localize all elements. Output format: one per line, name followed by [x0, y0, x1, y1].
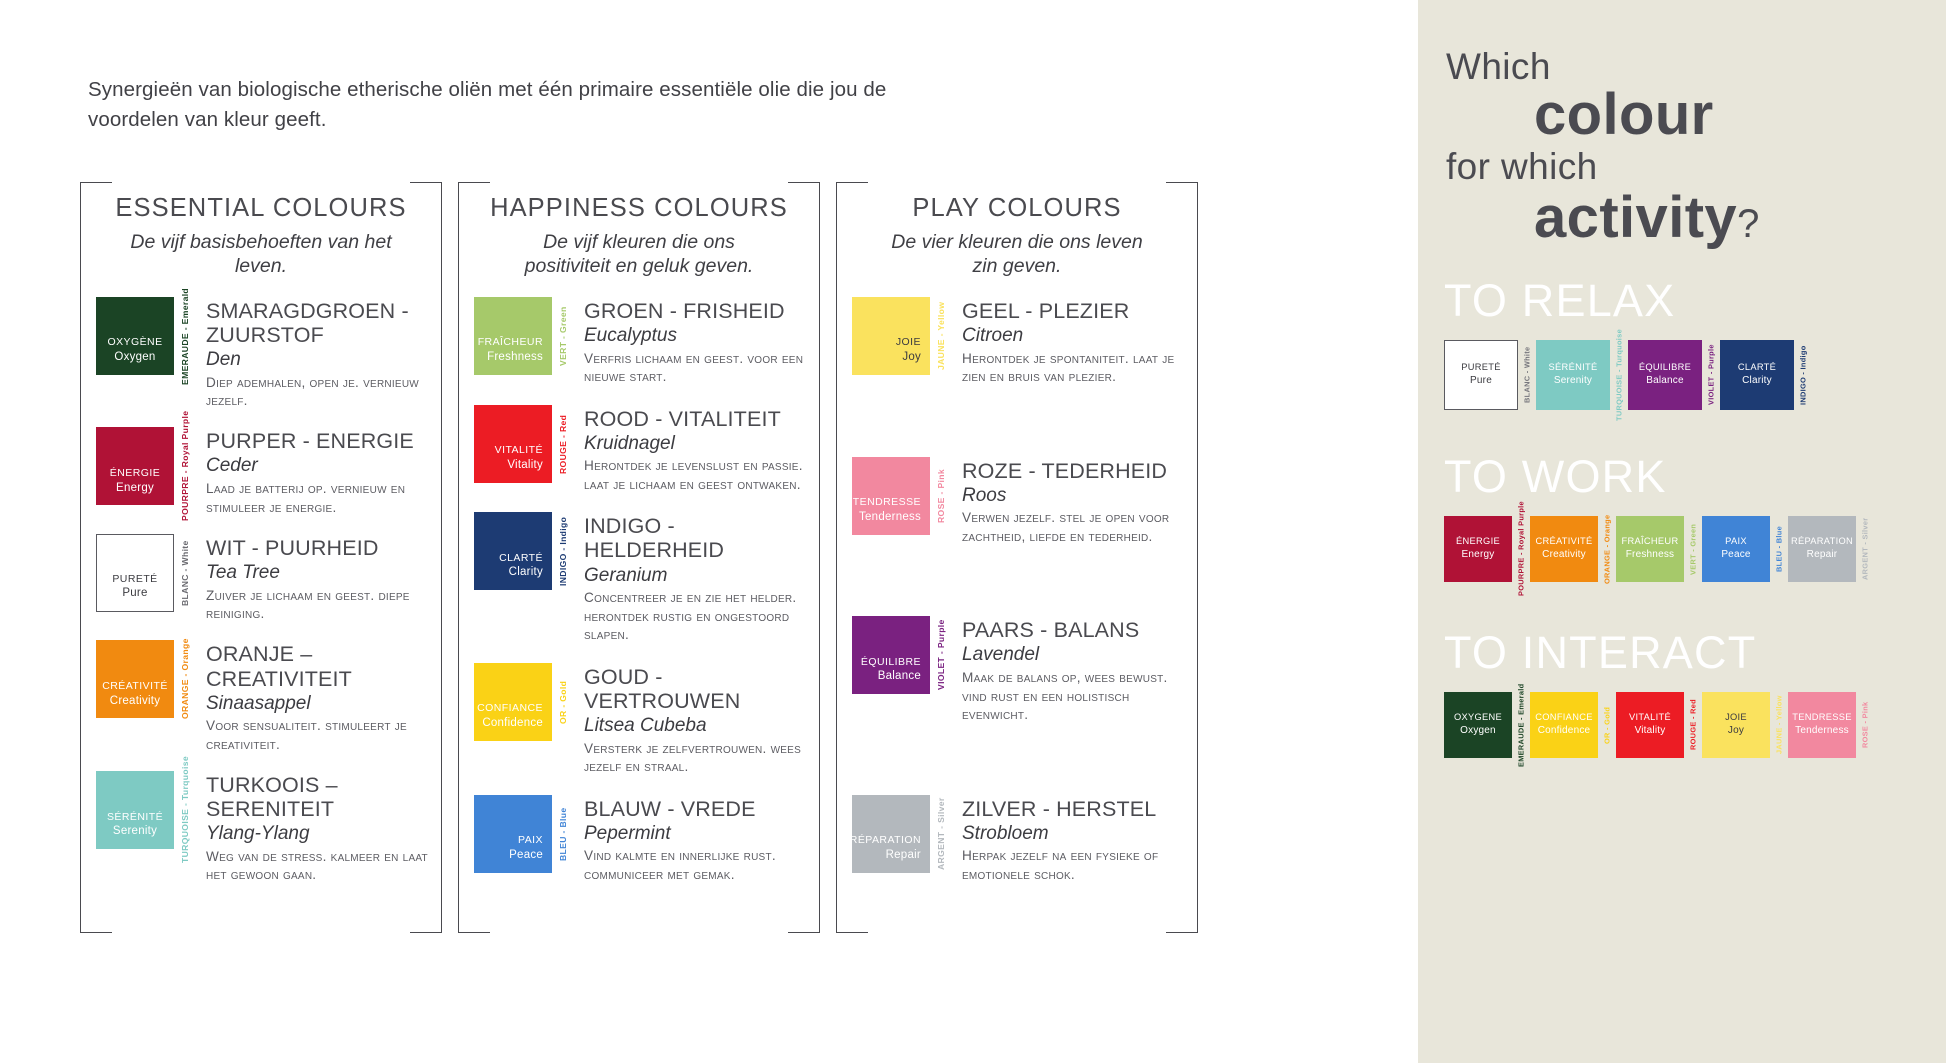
colour-entry[interactable]: SÉRÉNITÉSerenityTURQUOISE - TurquoiseTUR…: [96, 771, 428, 885]
column-title: ESSENTIAL COLOURS: [98, 194, 424, 223]
swatch-label-fr: FRAÎCHEUR: [478, 335, 543, 349]
swatch-group: OXYGÈNEOxygenEMERAUDE - Emerald: [96, 297, 192, 375]
poster-root: Synergieën van biologische etherische ol…: [0, 0, 1946, 1063]
swatch-label-en: Oxygen: [114, 350, 155, 366]
mini-swatch-label-fr: ÉQUILIBRE: [1639, 361, 1691, 374]
column-title: PLAY COLOURS: [854, 194, 1180, 223]
mini-swatch-label-fr: ÉNERGIE: [1456, 535, 1500, 548]
column-subtitle: De vier kleuren die ons leven zin geven.: [854, 230, 1180, 279]
column-header: HAPPINESS COLOURSDe vijf kleuren die ons…: [458, 182, 820, 279]
entry-oil-name: Ylang-Ylang: [206, 822, 428, 846]
entry-oil-name: Citroen: [962, 324, 1184, 348]
mini-colour-swatch[interactable]: PAIXPeace: [1702, 516, 1770, 582]
entry-title: TURKOOIS – SERENITEIT: [206, 773, 428, 821]
column-header: PLAY COLOURSDe vier kleuren die ons leve…: [836, 182, 1198, 279]
mini-swatch-label-en: Pure: [1470, 374, 1492, 389]
column-entries: JOIEJoyJAUNE - YellowGEEL - PLEZIERCitro…: [836, 279, 1198, 911]
swatch-label-en: Clarity: [509, 565, 543, 581]
mini-swatch-label-en: Serenity: [1554, 374, 1592, 389]
entry-oil-name: Strobloem: [962, 822, 1184, 846]
mini-swatch-group: CONFIANCEConfidenceOR - Gold: [1530, 692, 1613, 758]
swatch-side-label: VIOLET - Purple: [934, 616, 948, 694]
entry-oil-name: Pepermint: [584, 822, 806, 846]
mini-swatch-group: TENDRESSETendernessROSE - Pink: [1788, 692, 1871, 758]
entry-description: Herpak jezelf na een fysieke of emotione…: [962, 847, 1184, 884]
mini-colour-swatch[interactable]: ÉQUILIBREBalance: [1628, 340, 1702, 410]
column-entries: FRAÎCHEURFreshnessVERT - GreenGROEN - FR…: [458, 279, 820, 911]
entry-description: Diep ademhalen, open je. Vernieuw jezelf…: [206, 374, 428, 411]
entry-text: GROEN - FRISHEIDEucalyptusVerfris lichaa…: [570, 297, 806, 387]
mini-swatch-group: JOIEJoyJAUNE - Yellow: [1702, 692, 1785, 758]
entry-title: BLAUW - VREDE: [584, 797, 806, 821]
mini-swatch-label-fr: FRAÎCHEUR: [1622, 535, 1679, 548]
colour-swatch[interactable]: PAIXPeace: [474, 795, 552, 873]
mini-swatch-label-en: Energy: [1462, 548, 1495, 563]
entry-text: PURPER - ENERGIECederLaad je batterij op…: [192, 427, 428, 517]
mini-colour-swatch[interactable]: PURETÉPure: [1444, 340, 1518, 410]
mini-swatch-label-en: Joy: [1728, 724, 1744, 739]
entry-title: ORANJE – CREATIVITEIT: [206, 642, 428, 690]
colour-entry[interactable]: PURETÉPureBLANC - WhiteWIT - PUURHEIDTea…: [96, 534, 428, 624]
panel-headline: Which colour for which activity?: [1446, 48, 1926, 250]
mini-swatch-label-en: Creativity: [1542, 548, 1586, 563]
entry-text: BLAUW - VREDEPepermintVind kalmte en inn…: [570, 795, 806, 885]
swatch-group: ÉNERGIEEnergyPOURPRE - Royal Purple: [96, 427, 192, 505]
entry-oil-name: Geranium: [584, 564, 806, 588]
mini-swatch-group: PURETÉPureBLANC - White: [1444, 340, 1533, 410]
mini-swatch-label-en: Confidence: [1538, 724, 1591, 739]
mini-swatch-side-label: JAUNE - Yellow: [1773, 692, 1785, 758]
swatch-label-fr: OXYGÈNE: [107, 335, 162, 349]
swatch-label-en: Balance: [878, 669, 921, 685]
mini-swatch-label-en: Oxygen: [1460, 724, 1496, 739]
left-content-pane: Synergieën van biologische etherische ol…: [0, 0, 1418, 1063]
mini-swatch-side-label: BLANC - White: [1521, 340, 1533, 410]
entry-text: WIT - PUURHEIDTea TreeZuiver je lichaam …: [192, 534, 428, 624]
entry-text: TURKOOIS – SERENITEITYlang-YlangWeg van …: [192, 771, 428, 885]
swatch-group: ÉQUILIBREBalanceVIOLET - Purple: [852, 616, 948, 694]
colour-entry[interactable]: ÉQUILIBREBalanceVIOLET - PurplePAARS - B…: [852, 616, 1184, 724]
column-subtitle: De vijf basisbehoeften van het leven.: [98, 230, 424, 279]
colour-swatch[interactable]: CONFIANCEConfidence: [474, 663, 552, 741]
swatch-side-label: TURQUOISE - Turquoise: [178, 771, 192, 849]
mini-colour-swatch[interactable]: VITALITÉVitality: [1616, 692, 1684, 758]
mini-swatch-group: OXYGENEOxygenEMERAUDE - Emerald: [1444, 692, 1527, 758]
colour-entry[interactable]: CRÉATIVITÉCreativityORANGE - OrangeORANJ…: [96, 640, 428, 754]
swatch-label-en: Freshness: [487, 350, 543, 366]
entry-description: Zuiver je lichaam en geest. Diepe reinig…: [206, 587, 428, 624]
activity-label: TO RELAX: [1418, 276, 1946, 326]
entry-title: ROOD - VITALITEIT: [584, 407, 806, 431]
swatch-label-en: Peace: [509, 848, 543, 864]
headline-activity-word: activity: [1534, 185, 1737, 250]
headline-line-3: for which: [1446, 146, 1926, 187]
swatch-label-fr: CLARTÉ: [499, 551, 543, 565]
entry-oil-name: Kruidnagel: [584, 432, 806, 456]
mini-colour-swatch[interactable]: CONFIANCEConfidence: [1530, 692, 1598, 758]
entry-title: INDIGO - HELDERHEID: [584, 514, 806, 562]
entry-text: SMARAGDGROEN - ZUURSTOFDenDiep ademhalen…: [192, 297, 428, 411]
entry-text: PAARS - BALANSLavendelMaak de balans op,…: [948, 616, 1184, 724]
entry-title: GROEN - FRISHEID: [584, 299, 806, 323]
entry-oil-name: Roos: [962, 484, 1184, 508]
mini-swatch-group: CRÉATIVITÉCreativityORANGE - Orange: [1530, 516, 1613, 582]
mini-colour-swatch[interactable]: TENDRESSETenderness: [1788, 692, 1856, 758]
entry-oil-name: Lavendel: [962, 643, 1184, 667]
mini-swatch-group: FRAÎCHEURFreshnessVERT - Green: [1616, 516, 1699, 582]
mini-swatch-group: CLARTÉClarityINDIGO - Indigo: [1720, 340, 1809, 410]
swatch-side-label: BLEU - Blue: [556, 795, 570, 873]
mini-colour-swatch[interactable]: RÉPARATIONRepair: [1788, 516, 1856, 582]
mini-colour-swatch[interactable]: CLARTÉClarity: [1720, 340, 1794, 410]
colour-columns: ESSENTIAL COLOURSDe vijf basisbehoeften …: [80, 182, 1400, 933]
swatch-side-label: ORANGE - Orange: [178, 640, 192, 718]
swatch-label-fr: ÉNERGIE: [110, 466, 160, 480]
mini-swatch-side-label: TURQUOISE - Turquoise: [1613, 340, 1625, 410]
entry-title: ROZE - TEDERHEID: [962, 459, 1184, 483]
colour-swatch[interactable]: VITALITÉVitality: [474, 405, 552, 483]
swatch-side-label: BLANC - White: [178, 534, 192, 612]
colour-swatch[interactable]: SÉRÉNITÉSerenity: [96, 771, 174, 849]
mini-swatch-group: ÉQUILIBREBalanceVIOLET - Purple: [1628, 340, 1717, 410]
colour-entry[interactable]: OXYGÈNEOxygenEMERAUDE - EmeraldSMARAGDGR…: [96, 297, 428, 411]
entry-text: ROOD - VITALITEITKruidnagelHerontdek je …: [570, 405, 806, 495]
mini-swatch-label-fr: SÉRÉNITÉ: [1549, 361, 1598, 374]
swatch-label-en: Tenderness: [859, 510, 921, 526]
mini-colour-swatch[interactable]: OXYGENEOxygen: [1444, 692, 1512, 758]
swatch-label-fr: SÉRÉNITÉ: [107, 810, 163, 824]
colour-entry[interactable]: RÉPARATIONRepairARGENT - SilverZILVER - …: [852, 795, 1184, 885]
colour-entry[interactable]: ÉNERGIEEnergyPOURPRE - Royal PurplePURPE…: [96, 427, 428, 517]
entry-oil-name: Tea Tree: [206, 561, 428, 585]
colour-entry[interactable]: PAIXPeaceBLEU - BlueBLAUW - VREDEPepermi…: [474, 795, 806, 885]
colour-swatch[interactable]: RÉPARATIONRepair: [852, 795, 930, 873]
colour-swatch[interactable]: TENDRESSETenderness: [852, 457, 930, 535]
swatch-label-en: Confidence: [482, 716, 543, 732]
entry-text: ORANJE – CREATIVITEITSinaasappelVoor sen…: [192, 640, 428, 754]
colour-entry[interactable]: CLARTÉClarityINDIGO - IndigoINDIGO - HEL…: [474, 512, 806, 644]
mini-swatch-label-fr: RÉPARATION: [1791, 535, 1853, 548]
column-header: ESSENTIAL COLOURSDe vijf basisbehoeften …: [80, 182, 442, 279]
mini-swatch-label-en: Peace: [1721, 548, 1750, 563]
colour-swatch[interactable]: CLARTÉClarity: [474, 512, 552, 590]
swatch-group: CONFIANCEConfidenceOR - Gold: [474, 663, 570, 741]
mini-swatch-label-fr: PAIX: [1725, 535, 1747, 548]
entry-title: ZILVER - HERSTEL: [962, 797, 1184, 821]
swatch-side-label: POURPRE - Royal Purple: [178, 427, 192, 505]
swatch-label-en: Energy: [116, 481, 154, 497]
swatch-group: RÉPARATIONRepairARGENT - Silver: [852, 795, 948, 873]
entry-description: Herontdek je spontaniteit. Laat je zien …: [962, 350, 1184, 387]
mini-swatch-label-en: Vitality: [1635, 724, 1666, 739]
entry-text: ZILVER - HERSTELStrobloemHerpak jezelf n…: [948, 795, 1184, 885]
entry-description: Weg van de stress. Kalmeer en laat het g…: [206, 848, 428, 885]
column-subtitle: De vijf kleuren die ons positiviteit en …: [476, 230, 802, 279]
entry-description: Laad je batterij op. Vernieuw en stimule…: [206, 480, 428, 517]
entry-oil-name: Ceder: [206, 454, 428, 478]
colour-swatch[interactable]: JOIEJoy: [852, 297, 930, 375]
swatch-label-en: Vitality: [507, 458, 543, 474]
entry-title: WIT - PUURHEID: [206, 536, 428, 560]
headline-line-1: Which: [1446, 48, 1926, 85]
activity-group-to-relax: TO RELAXPURETÉPureBLANC - WhiteSÉRÉNITÉS…: [1418, 276, 1946, 410]
colour-entry[interactable]: FRAÎCHEURFreshnessVERT - GreenGROEN - FR…: [474, 297, 806, 387]
mini-swatch-side-label: ROUGE - Red: [1687, 692, 1699, 758]
entry-text: GOUD - VERTROUWENLitsea CubebaVersterk j…: [570, 663, 806, 777]
mini-swatch-side-label: INDIGO - Indigo: [1797, 340, 1809, 410]
colour-swatch[interactable]: FRAÎCHEURFreshness: [474, 297, 552, 375]
colour-swatch[interactable]: CRÉATIVITÉCreativity: [96, 640, 174, 718]
headline-question-mark: ?: [1737, 202, 1760, 246]
swatch-label-fr: JOIE: [896, 335, 921, 349]
swatch-label-en: Joy: [902, 350, 921, 366]
swatch-group: FRAÎCHEURFreshnessVERT - Green: [474, 297, 570, 375]
colour-swatch[interactable]: ÉNERGIEEnergy: [96, 427, 174, 505]
mini-swatch-label-en: Tenderness: [1795, 724, 1849, 739]
mini-swatch-label-en: Balance: [1646, 374, 1684, 389]
entry-oil-name: Eucalyptus: [584, 324, 806, 348]
mini-swatch-label-en: Repair: [1807, 548, 1838, 563]
swatch-side-label: ROSE - Pink: [934, 457, 948, 535]
mini-swatch-side-label: ROSE - Pink: [1859, 692, 1871, 758]
swatch-group: PAIXPeaceBLEU - Blue: [474, 795, 570, 873]
activity-swatch-row: PURETÉPureBLANC - WhiteSÉRÉNITÉSerenityT…: [1418, 340, 1946, 410]
colour-entry[interactable]: CONFIANCEConfidenceOR - GoldGOUD - VERTR…: [474, 663, 806, 777]
mini-colour-swatch[interactable]: CRÉATIVITÉCreativity: [1530, 516, 1598, 582]
entry-description: Verfris lichaam en geest. Voor een nieuw…: [584, 350, 806, 387]
activity-group-to-interact: TO INTERACTOXYGENEOxygenEMERAUDE - Emera…: [1418, 628, 1946, 758]
colour-swatch[interactable]: OXYGÈNEOxygen: [96, 297, 174, 375]
swatch-label-en: Repair: [886, 848, 921, 864]
mini-swatch-label-fr: PURETÉ: [1461, 361, 1501, 374]
swatch-group: VITALITÉVitalityROUGE - Red: [474, 405, 570, 483]
entry-title: PURPER - ENERGIE: [206, 429, 428, 453]
mini-swatch-side-label: VIOLET - Purple: [1705, 340, 1717, 410]
mini-swatch-group: ÉNERGIEEnergyPOURPRE - Royal Purple: [1444, 516, 1527, 582]
swatch-group: CRÉATIVITÉCreativityORANGE - Orange: [96, 640, 192, 718]
swatch-side-label: OR - Gold: [556, 663, 570, 741]
swatch-label-fr: CRÉATIVITÉ: [102, 679, 168, 693]
swatch-label-en: Creativity: [110, 694, 160, 710]
column-title: HAPPINESS COLOURS: [476, 194, 802, 223]
swatch-label-fr: PAIX: [518, 833, 543, 847]
activity-swatch-row: OXYGENEOxygenEMERAUDE - EmeraldCONFIANCE…: [1418, 692, 1946, 758]
mini-colour-swatch[interactable]: JOIEJoy: [1702, 692, 1770, 758]
entry-text: ROZE - TEDERHEIDRoosVerwen jezelf. Stel …: [948, 457, 1184, 547]
mini-swatch-group: SÉRÉNITÉSerenityTURQUOISE - Turquoise: [1536, 340, 1625, 410]
mini-swatch-label-fr: CRÉATIVITÉ: [1535, 535, 1592, 548]
mini-swatch-label-fr: VITALITÉ: [1629, 711, 1671, 724]
swatch-label-fr: RÉPARATION: [850, 833, 921, 847]
swatch-side-label: JAUNE - Yellow: [934, 297, 948, 375]
swatch-label-fr: VITALITÉ: [495, 443, 543, 457]
colour-column-1: ESSENTIAL COLOURSDe vijf basisbehoeften …: [80, 182, 442, 933]
swatch-side-label: VERT - Green: [556, 297, 570, 375]
activity-swatch-row: ÉNERGIEEnergyPOURPRE - Royal PurpleCRÉAT…: [1418, 516, 1946, 582]
entry-description: Versterk je zelfvertrouwen. Wees jezelf …: [584, 740, 806, 777]
entry-title: SMARAGDGROEN - ZUURSTOF: [206, 299, 428, 347]
activity-label: TO INTERACT: [1418, 628, 1946, 678]
entry-oil-name: Den: [206, 348, 428, 372]
swatch-label-fr: TENDRESSE: [853, 495, 921, 509]
colour-entry[interactable]: TENDRESSETendernessROSE - PinkROZE - TED…: [852, 457, 1184, 547]
swatch-group: SÉRÉNITÉSerenityTURQUOISE - Turquoise: [96, 771, 192, 849]
mini-swatch-label-fr: OXYGENE: [1454, 711, 1502, 724]
entry-title: PAARS - BALANS: [962, 618, 1184, 642]
entry-description: Concentreer je en zie het helder. Heront…: [584, 589, 806, 644]
entry-title: GOUD - VERTROUWEN: [584, 665, 806, 713]
mini-swatch-group: RÉPARATIONRepairARGENT - Silver: [1788, 516, 1871, 582]
colour-swatch[interactable]: ÉQUILIBREBalance: [852, 616, 930, 694]
swatch-side-label: INDIGO - Indigo: [556, 512, 570, 590]
entry-description: Voor sensualiteit. Stimuleert je creativ…: [206, 717, 428, 754]
entry-oil-name: Litsea Cubeba: [584, 714, 806, 738]
mini-swatch-label-en: Freshness: [1626, 548, 1675, 563]
activity-group-to-work: TO WORKÉNERGIEEnergyPOURPRE - Royal Purp…: [1418, 452, 1946, 582]
colour-swatch[interactable]: PURETÉPure: [96, 534, 174, 612]
swatch-label-fr: ÉQUILIBRE: [861, 655, 921, 669]
swatch-label-fr: PURETÉ: [112, 572, 157, 586]
mini-swatch-side-label: BLEU - Blue: [1773, 516, 1785, 582]
mini-swatch-side-label: ARGENT - Silver: [1859, 516, 1871, 582]
entry-oil-name: Sinaasappel: [206, 692, 428, 716]
swatch-side-label: EMERAUDE - Emerald: [178, 297, 192, 375]
mini-colour-swatch[interactable]: SÉRÉNITÉSerenity: [1536, 340, 1610, 410]
mini-swatch-label-fr: CONFIANCE: [1535, 711, 1592, 724]
swatch-group: CLARTÉClarityINDIGO - Indigo: [474, 512, 570, 590]
headline-line-4: activity?: [1534, 187, 1926, 250]
swatch-group: JOIEJoyJAUNE - Yellow: [852, 297, 948, 375]
mini-swatch-side-label: VERT - Green: [1687, 516, 1699, 582]
swatch-label-fr: CONFIANCE: [477, 701, 543, 715]
colour-entry[interactable]: VITALITÉVitalityROUGE - RedROOD - VITALI…: [474, 405, 806, 495]
mini-swatch-label-en: Clarity: [1742, 374, 1772, 389]
entry-description: Verwen jezelf. Stel je open voor zachthe…: [962, 509, 1184, 546]
entry-title: GEEL - PLEZIER: [962, 299, 1184, 323]
mini-swatch-label-fr: JOIE: [1725, 711, 1747, 724]
entry-text: GEEL - PLEZIERCitroenHerontdek je sponta…: [948, 297, 1184, 387]
entry-description: Maak de balans op, wees bewust. Vind rus…: [962, 669, 1184, 724]
swatch-side-label: ARGENT - Silver: [934, 795, 948, 873]
mini-colour-swatch[interactable]: FRAÎCHEURFreshness: [1616, 516, 1684, 582]
mini-swatch-group: VITALITÉVitalityROUGE - Red: [1616, 692, 1699, 758]
activity-panel: Which colour for which activity? TO RELA…: [1418, 0, 1946, 1063]
swatch-label-en: Pure: [122, 586, 147, 602]
entry-text: INDIGO - HELDERHEIDGeraniumConcentreer j…: [570, 512, 806, 644]
mini-swatch-group: PAIXPeaceBLEU - Blue: [1702, 516, 1785, 582]
mini-swatch-label-fr: CLARTÉ: [1738, 361, 1776, 374]
colour-entry[interactable]: JOIEJoyJAUNE - YellowGEEL - PLEZIERCitro…: [852, 297, 1184, 387]
mini-swatch-label-fr: TENDRESSE: [1792, 711, 1852, 724]
swatch-group: TENDRESSETendernessROSE - Pink: [852, 457, 948, 535]
swatch-side-label: ROUGE - Red: [556, 405, 570, 483]
colour-column-2: HAPPINESS COLOURSDe vijf kleuren die ons…: [458, 182, 820, 933]
swatch-label-en: Serenity: [113, 824, 157, 840]
intro-paragraph: Synergieën van biologische etherische ol…: [88, 75, 968, 134]
mini-swatch-side-label: EMERAUDE - Emerald: [1515, 692, 1527, 758]
swatch-group: PURETÉPureBLANC - White: [96, 534, 192, 612]
column-entries: OXYGÈNEOxygenEMERAUDE - EmeraldSMARAGDGR…: [80, 279, 442, 911]
entry-description: Vind kalmte en innerlijke rust. Communic…: [584, 847, 806, 884]
entry-description: Herontdek je levenslust en passie. Laat …: [584, 457, 806, 494]
mini-swatch-side-label: ORANGE - Orange: [1601, 516, 1613, 582]
mini-swatch-side-label: POURPRE - Royal Purple: [1515, 516, 1527, 582]
mini-colour-swatch[interactable]: ÉNERGIEEnergy: [1444, 516, 1512, 582]
activity-label: TO WORK: [1418, 452, 1946, 502]
headline-line-2: colour: [1534, 85, 1926, 146]
mini-swatch-side-label: OR - Gold: [1601, 692, 1613, 758]
colour-column-3: PLAY COLOURSDe vier kleuren die ons leve…: [836, 182, 1198, 933]
